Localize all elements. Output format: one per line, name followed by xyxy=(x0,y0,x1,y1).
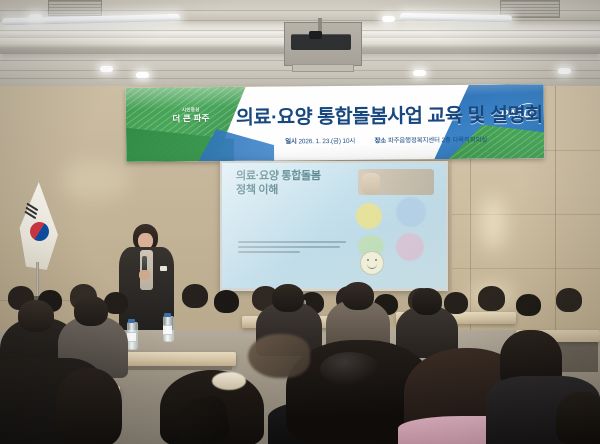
hair-tie xyxy=(212,372,246,390)
fur-hood xyxy=(248,334,310,378)
projection-screen: 의료·요양 통합돌봄 정책 이해 xyxy=(222,163,446,288)
projector-lens-icon xyxy=(309,31,322,39)
downlight xyxy=(558,68,571,74)
seminar-photo: 시민중심 더 큰 파주 PAJU 의료·요양 통합돌봄사업 교육 및 설명회 일… xyxy=(0,0,600,444)
attendee-head xyxy=(556,392,600,444)
downlight xyxy=(136,72,149,78)
event-banner: 시민중심 더 큰 파주 PAJU 의료·요양 통합돌봄사업 교육 및 설명회 일… xyxy=(126,84,545,162)
attendee-head xyxy=(56,368,122,444)
downlight xyxy=(382,16,395,22)
screen-glare xyxy=(222,163,446,288)
pocket-square xyxy=(160,266,167,271)
banner-glare xyxy=(126,84,545,162)
ac-vent-icon xyxy=(48,0,102,16)
downlight xyxy=(100,66,113,72)
speaker-hand xyxy=(139,270,150,280)
projector-plate xyxy=(292,64,354,72)
downlight xyxy=(413,70,426,76)
attendee-hair-highlight xyxy=(320,352,380,386)
downlight xyxy=(29,14,42,20)
